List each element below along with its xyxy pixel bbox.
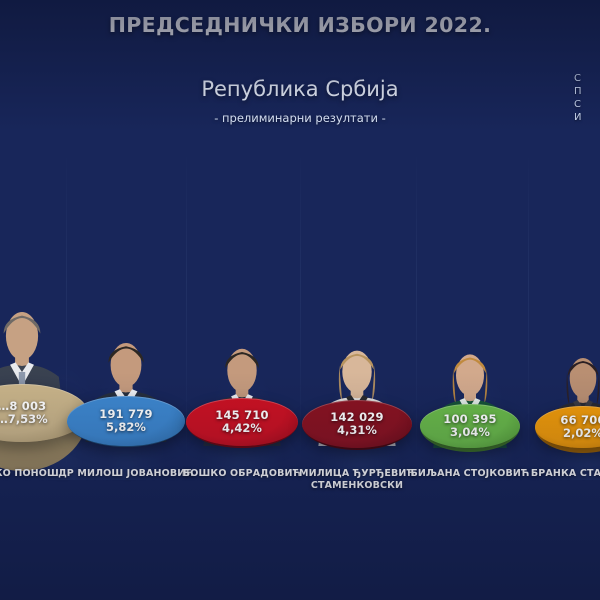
- vote-percentage: 3,04%: [450, 426, 490, 439]
- candidate-podium-row: …8 003…7,53%…КО ПОНОШ 191 7795,82%ДР МИЛ…: [0, 0, 600, 600]
- result-podium: 191 7795,82%: [67, 396, 185, 446]
- result-podium: 66 7062,02%: [535, 406, 600, 448]
- candidate-name: БРАНКА СТАМЕН…: [531, 468, 600, 480]
- candidate-name: …КО ПОНОШ: [0, 468, 59, 480]
- result-podium: 100 3953,04%: [420, 404, 520, 448]
- candidate-name: БОШКО ОБРАДОВИЋ: [183, 468, 301, 480]
- candidate-name-line2: СТАМЕНКОВСКИ: [299, 480, 415, 492]
- vote-percentage: 2,02%: [563, 427, 600, 440]
- vote-percentage: 4,42%: [222, 422, 262, 435]
- candidate-name-line1: БИЉАНА СТОЈКОВИЋ: [411, 468, 530, 479]
- podium-result-label: 66 7062,02%: [535, 406, 600, 448]
- result-podium: 142 0294,31%: [302, 400, 412, 448]
- podium-result-label: 100 3953,04%: [420, 404, 520, 448]
- vote-percentage: …7,53%: [0, 413, 48, 426]
- candidate-name-line1: ДР МИЛОШ ЈОВАНОВИЋ: [58, 468, 194, 479]
- podium-result-label: 142 0294,31%: [302, 400, 412, 448]
- vote-percentage: 5,82%: [106, 421, 146, 434]
- candidate-name: МИЛИЦА ЂУРЂЕВИЋСТАМЕНКОВСКИ: [299, 468, 415, 491]
- candidate-name-line1: …КО ПОНОШ: [0, 468, 59, 479]
- candidate-name-line1: БОШКО ОБРАДОВИЋ: [183, 468, 301, 479]
- vote-percentage: 4,31%: [337, 424, 377, 437]
- candidate-name-line1: МИЛИЦА ЂУРЂЕВИЋ: [299, 468, 415, 479]
- podium-result-label: 191 7795,82%: [67, 396, 185, 446]
- results-graphic: ПРЕДСЕДНИЧКИ ИЗБОРИ 2022. Република Срби…: [0, 0, 600, 600]
- candidate-name-line1: БРАНКА СТАМЕН…: [531, 468, 600, 479]
- result-podium: 145 7104,42%: [186, 398, 298, 446]
- podium-result-label: 145 7104,42%: [186, 398, 298, 446]
- candidate-name: ДР МИЛОШ ЈОВАНОВИЋ: [58, 468, 194, 480]
- candidate-name: БИЉАНА СТОЈКОВИЋ: [411, 468, 530, 480]
